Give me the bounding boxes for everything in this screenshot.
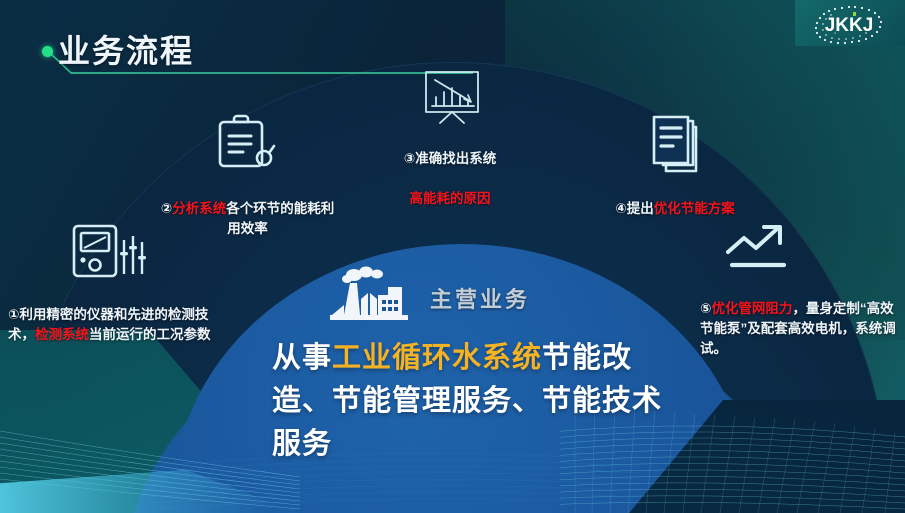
factory-icon bbox=[330, 265, 416, 330]
step-5-seg-1: 优化管网阻力 bbox=[711, 301, 792, 316]
core-business-label: 主营业务 bbox=[430, 282, 530, 314]
step-3-seg-1: 高能耗的原因 bbox=[410, 191, 491, 206]
step-3-text: ③准确找出系统 高能耗的原因 bbox=[360, 129, 540, 209]
step-2-seg-2: 各个环节的能耗利用效率 bbox=[226, 201, 334, 236]
rising-trend-arrow-icon bbox=[722, 222, 900, 279]
step-5-text: ⑤优化管网阻力，量身定制“高效节能泵”及配套高效电机，系统调试。 bbox=[700, 279, 900, 359]
step-1-text: ①利用精密的仪器和先进的检测技术，检测系统当前运行的工况参数 bbox=[8, 285, 223, 345]
step-item-1[interactable]: ①利用精密的仪器和先进的检测技术，检测系统当前运行的工况参数 bbox=[8, 222, 223, 345]
step-4-text: ④提出优化节能方案 bbox=[580, 179, 770, 219]
page-title: 业务流程 bbox=[58, 26, 194, 72]
logo-text: JKKJ bbox=[825, 15, 874, 36]
step-1-seg-1: 检测系统 bbox=[35, 327, 89, 342]
step-2-seg-1: 分析系统 bbox=[172, 201, 226, 216]
step-4-seg-1: 优化节能方案 bbox=[654, 201, 735, 216]
title-accent-dot bbox=[42, 46, 53, 57]
step-2-seg-0: ② bbox=[161, 201, 172, 216]
step-item-2[interactable]: ②分析系统各个环节的能耗利用效率 bbox=[160, 112, 335, 239]
core-seg-1: 工业循环水系统 bbox=[332, 342, 542, 374]
core-seg-0: 从事 bbox=[272, 342, 332, 374]
step-3-seg-0: ③准确找出系统 bbox=[404, 151, 496, 166]
step-item-4[interactable]: ④提出优化节能方案 bbox=[580, 112, 770, 219]
core-business-description: 从事工业循环水系统节能改造、节能管理服务、节能技术服务 bbox=[272, 337, 664, 466]
slide-canvas: JKKJ 业务流程 bbox=[0, 0, 905, 513]
step-4-seg-0: ④提出 bbox=[615, 201, 653, 216]
step-2-text: ②分析系统各个环节的能耗利用效率 bbox=[160, 179, 335, 239]
documents-icon bbox=[580, 112, 770, 179]
step-item-3[interactable]: ③准确找出系统 高能耗的原因 bbox=[360, 68, 540, 209]
step-1-seg-2: 当前运行的工况参数 bbox=[89, 327, 211, 342]
step-5-seg-0: ⑤ bbox=[700, 301, 711, 316]
step-item-5[interactable]: ⑤优化管网阻力，量身定制“高效节能泵”及配套高效电机，系统调试。 bbox=[700, 222, 900, 359]
clipboard-search-icon bbox=[160, 112, 335, 179]
core-business-header: 主营业务 bbox=[330, 265, 530, 330]
declining-chart-board-icon bbox=[360, 68, 540, 129]
jkkj-logo: JKKJ bbox=[805, 4, 897, 44]
